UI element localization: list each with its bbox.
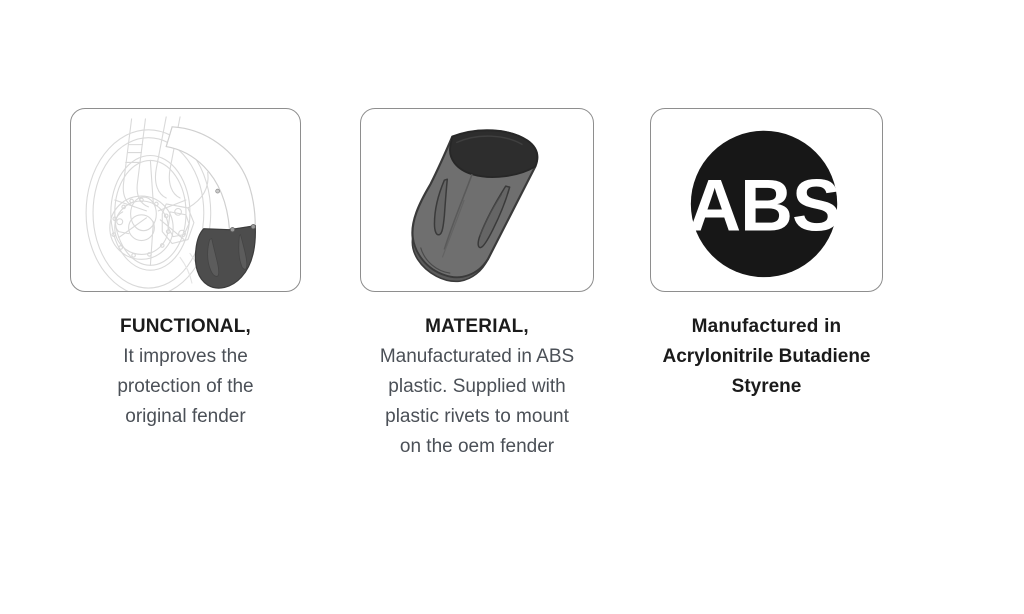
feature-body-line: Acrylonitrile Butadiene xyxy=(650,342,883,372)
caption-material: MATERIAL, Manufacturated in ABS plastic.… xyxy=(360,312,594,462)
icon-card-abs: ABS xyxy=(650,108,883,292)
abs-badge-icon: ABS xyxy=(651,109,882,291)
feature-body-line: original fender xyxy=(70,402,301,432)
front-wheel-with-fender-extender-illustration xyxy=(71,109,300,291)
feature-body-line: Manufacturated in ABS xyxy=(360,342,594,372)
feature-column-abs: ABS Manufactured in Acrylonitrile Butadi… xyxy=(650,108,883,402)
caption-functional: FUNCTIONAL, It improves the protection o… xyxy=(70,312,301,432)
icon-card-material xyxy=(360,108,594,292)
feature-column-functional: FUNCTIONAL, It improves the protection o… xyxy=(70,108,301,432)
caption-abs: Manufactured in Acrylonitrile Butadiene … xyxy=(650,312,883,402)
feature-body-line: protection of the xyxy=(70,372,301,402)
feature-heading: FUNCTIONAL, xyxy=(70,312,301,342)
feature-grid: FUNCTIONAL, It improves the protection o… xyxy=(0,0,1024,614)
feature-body-line: plastic rivets to mount xyxy=(360,402,594,432)
feature-heading: Manufactured in xyxy=(650,312,883,342)
feature-heading: MATERIAL, xyxy=(360,312,594,342)
feature-panel-page: FUNCTIONAL, It improves the protection o… xyxy=(0,0,1024,614)
feature-body-line: on the oem fender xyxy=(360,432,594,462)
abs-label: ABS xyxy=(688,165,840,247)
icon-card-functional xyxy=(70,108,301,292)
feature-body-line: plastic. Supplied with xyxy=(360,372,594,402)
fender-extender-product-render xyxy=(361,109,593,291)
feature-column-material: MATERIAL, Manufacturated in ABS plastic.… xyxy=(360,108,594,462)
feature-body-line: Styrene xyxy=(650,372,883,402)
feature-body-line: It improves the xyxy=(70,342,301,372)
